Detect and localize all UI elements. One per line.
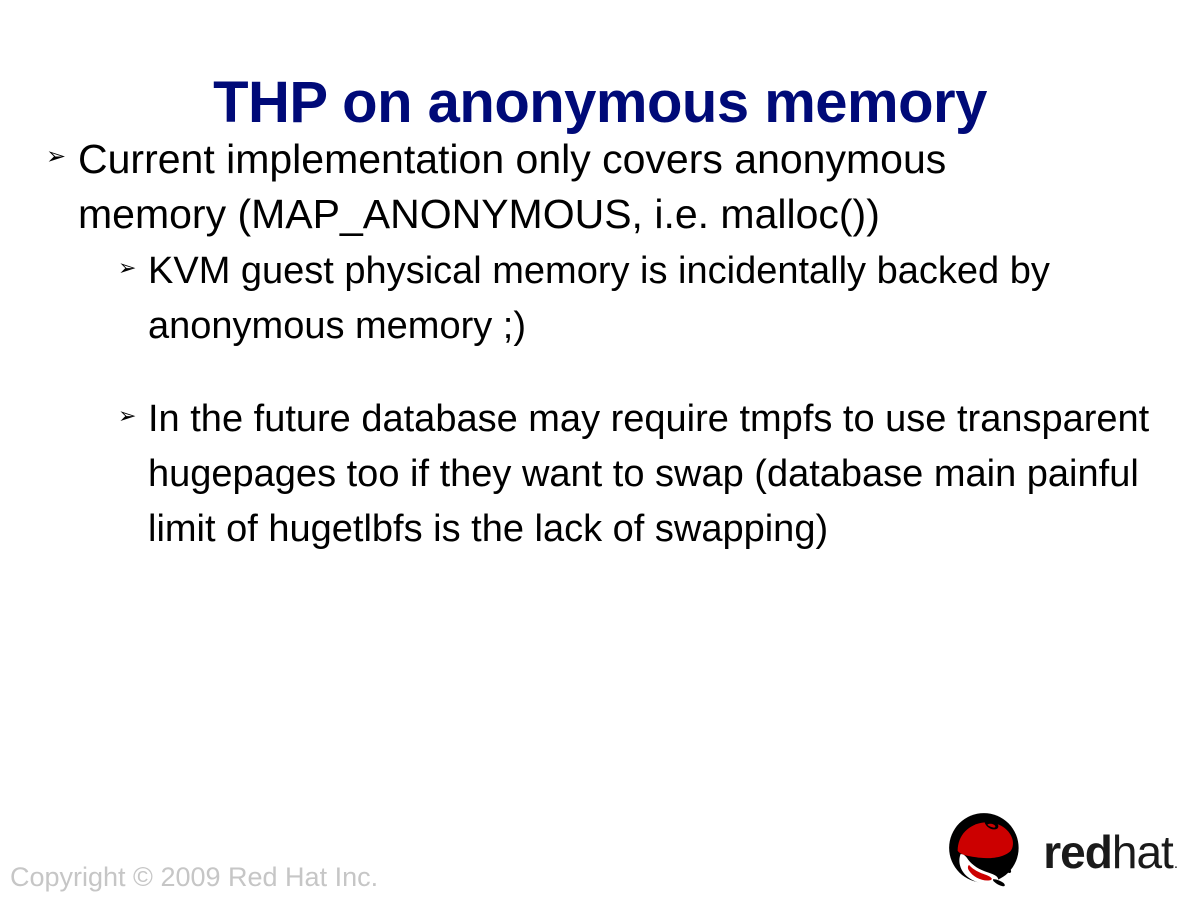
slide: THP on anonymous memory ➢ Current implem… — [0, 0, 1200, 901]
slide-body: ➢ Current implementation only covers ano… — [0, 132, 1200, 557]
bullet-text: KVM guest physical memory is incidentall… — [148, 244, 1182, 354]
bullet-level2-future-database: ➢ In the future database may require tmp… — [0, 392, 1200, 557]
bullet-level2-kvm-guest-memory: ➢ KVM guest physical memory is incidenta… — [0, 244, 1200, 354]
copyright-notice: Copyright © 2009 Red Hat Inc. — [10, 863, 378, 893]
arrow-bullet-icon: ➢ — [46, 132, 78, 170]
wordmark-hat: hat — [1112, 826, 1173, 878]
wordmark-trademark: . — [1174, 855, 1177, 872]
redhat-wordmark: redhat. — [1043, 829, 1176, 875]
arrow-bullet-glyph: ➢ — [46, 145, 66, 169]
bullet-text: Current implementation only covers anony… — [78, 132, 1098, 242]
redhat-shadowman-icon — [943, 811, 1029, 889]
arrow-bullet-glyph: ➢ — [118, 405, 136, 427]
wordmark-red: red — [1043, 826, 1112, 878]
arrow-bullet-icon: ➢ — [118, 244, 148, 280]
bullet-text: In the future database may require tmpfs… — [148, 392, 1182, 557]
redhat-logo: redhat. — [943, 811, 1176, 889]
bullet-level1-current-implementation: ➢ Current implementation only covers ano… — [0, 132, 1200, 242]
page-title: THP on anonymous memory — [0, 73, 1200, 134]
arrow-bullet-glyph: ➢ — [118, 257, 136, 279]
arrow-bullet-icon: ➢ — [118, 392, 148, 428]
